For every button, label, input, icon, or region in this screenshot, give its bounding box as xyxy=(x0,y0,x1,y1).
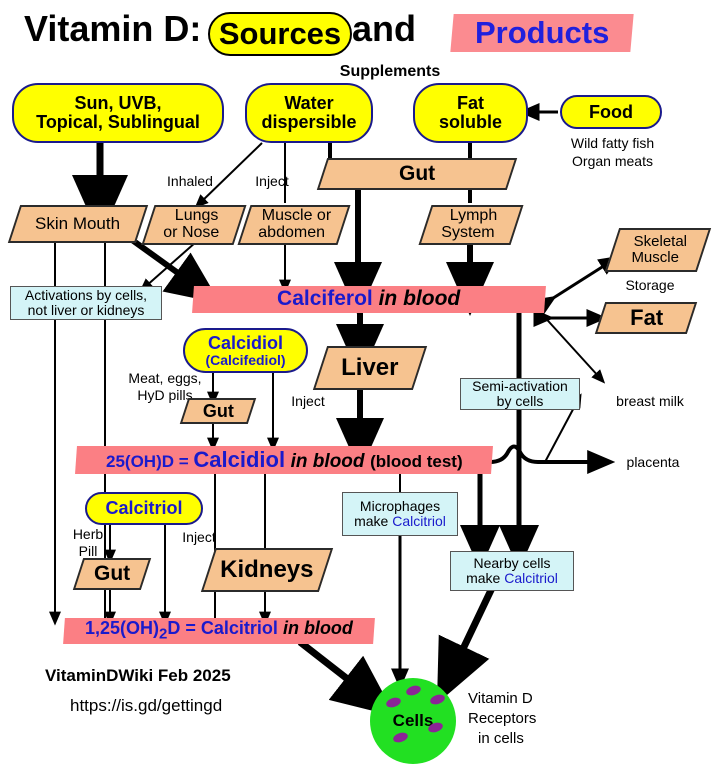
herb-text: Herb xyxy=(73,527,103,542)
footer-credit: VitaminDWiki Feb 2025 xyxy=(45,665,295,687)
semi-activation-line2: by cells xyxy=(497,394,544,409)
label-breast-milk: breast milk xyxy=(600,392,700,410)
label-inject-calcitriol: Inject xyxy=(170,528,228,546)
organ-kidneys[interactable]: Kidneys xyxy=(201,548,333,592)
note-nearby-cells: Nearby cells make Calcitriol xyxy=(450,551,574,591)
title-lead: Vitamin D: xyxy=(24,8,201,49)
label-inject-top: Inject xyxy=(242,172,302,190)
source-water-dispersible[interactable]: Water dispersible xyxy=(245,83,373,143)
skin-mouth-label: Skin Mouth xyxy=(35,215,120,233)
source-food-label: Food xyxy=(589,103,633,122)
nearby-cells-make: make xyxy=(466,570,504,586)
organ-muscle-abdomen[interactable]: Muscle or abdomen xyxy=(238,205,351,245)
meat-eggs-text: Meat, eggs, xyxy=(128,371,201,386)
supplements-label: Supplements xyxy=(305,62,475,82)
inject-calcitriol-text: Inject xyxy=(182,530,215,545)
label-vitamin-d-receptors-line2: Receptors xyxy=(468,710,578,728)
microphages-make: make xyxy=(354,513,392,529)
footer-url-text: https://is.gd/gettingd xyxy=(70,697,222,715)
breast-milk-text: breast milk xyxy=(616,394,684,409)
vitamin-d-text: Vitamin D xyxy=(468,691,533,707)
calcitriol-band-text: 1,25(OH)2D = Calcitriol in blood xyxy=(85,619,353,642)
microphages-line1: Microphages xyxy=(360,499,440,514)
hyd-pills-text: HyD pills xyxy=(137,388,192,403)
label-meat-eggs: Meat, eggs, xyxy=(110,370,220,386)
source-sun-uvb[interactable]: Sun, UVB, Topical, Sublingual xyxy=(12,83,224,143)
note-microphages: Microphages make Calcitriol xyxy=(342,492,458,536)
source-fat-line1: Fat xyxy=(457,94,484,113)
gut-mid-label: Gut xyxy=(203,402,234,421)
calciferol-text: Calciferol in blood xyxy=(277,288,460,310)
title-sources: Sources xyxy=(219,16,341,52)
label-inject-calcidiol: Inject xyxy=(278,392,338,410)
page-title: Vitamin D: xyxy=(24,8,201,50)
inhaled-text: Inhaled xyxy=(167,174,213,189)
calcidiol-line1: Calcidiol xyxy=(208,334,283,353)
source-fat-line2: soluble xyxy=(439,113,502,132)
lungs-line2: or Nose xyxy=(163,225,219,242)
fat-storage-label: Fat xyxy=(630,306,663,329)
label-herb: Herb xyxy=(64,526,112,542)
lungs-line1: Lungs xyxy=(175,208,219,225)
skeletal-line2: Muscle xyxy=(632,250,680,266)
blood-band-calcitriol: 1,25(OH)2D = Calcitriol in blood xyxy=(63,618,375,644)
label-vitamin-d-receptors-line1: Vitamin D xyxy=(468,690,578,708)
inject-calcidiol-text: Inject xyxy=(291,394,324,409)
calcidiol-band-text: 25(OH)D = Calcidiol in blood (blood test… xyxy=(106,448,463,472)
organ-gut-top[interactable]: Gut xyxy=(317,158,517,190)
inject-top-text: Inject xyxy=(255,174,288,189)
kidneys-label: Kidneys xyxy=(220,557,313,582)
calcidiol-line2: (Calcifediol) xyxy=(205,353,285,368)
organ-gut-mid[interactable]: Gut xyxy=(180,398,256,424)
semi-activation-line1: Semi-activation xyxy=(472,379,568,394)
source-water-line2: dispersible xyxy=(261,113,356,132)
diagram-canvas: Vitamin D: Sources and Products Suppleme… xyxy=(0,0,713,763)
pill-calcidiol[interactable]: Calcidiol (Calcifediol) xyxy=(183,328,308,373)
receptors-text: Receptors xyxy=(468,711,536,727)
source-water-line1: Water xyxy=(284,94,333,113)
microphages-line2: make Calcitriol xyxy=(354,514,446,529)
in-cells-text: in cells xyxy=(478,731,524,747)
muscle-line1: Muscle or xyxy=(262,208,331,225)
label-inhaled: Inhaled xyxy=(155,172,225,190)
title-sources-pill: Sources xyxy=(208,12,352,56)
note-activations-by-cells: Activations by cells, not liver or kidne… xyxy=(10,286,162,320)
organ-skin-mouth[interactable]: Skin Mouth xyxy=(8,205,148,243)
organ-lungs-nose[interactable]: Lungs or Nose xyxy=(142,205,247,245)
pill-text: Pill xyxy=(79,544,98,559)
label-storage: Storage xyxy=(600,276,700,294)
source-food[interactable]: Food xyxy=(560,95,662,129)
title-and: and xyxy=(352,8,416,50)
source-sun-line2: Topical, Sublingual xyxy=(36,113,200,132)
title-and-text: and xyxy=(352,8,416,49)
nearby-cells-line1: Nearby cells xyxy=(473,556,550,571)
liver-label: Liver xyxy=(341,355,398,380)
gut-top-label: Gut xyxy=(399,163,435,185)
label-pill: Pill xyxy=(64,543,112,559)
organ-skeletal-muscle[interactable]: Skeletal Muscle xyxy=(605,228,711,272)
lymph-line2: System xyxy=(442,225,495,242)
blood-band-calcidiol: 25(OH)D = Calcidiol in blood (blood test… xyxy=(75,446,493,474)
organ-lymph-system[interactable]: Lymph System xyxy=(419,205,524,245)
pill-calcitriol[interactable]: Calcitriol xyxy=(85,492,203,525)
organ-gut-low[interactable]: Gut xyxy=(73,558,151,590)
microphages-calcitriol: Calcitriol xyxy=(392,513,446,529)
source-fat-soluble[interactable]: Fat soluble xyxy=(413,83,528,143)
blood-band-calciferol: Calciferol in blood xyxy=(192,286,546,313)
nearby-cells-line2: make Calcitriol xyxy=(466,571,558,586)
organ-meats-text: Organ meats xyxy=(572,154,653,169)
muscle-line2: abdomen xyxy=(258,225,325,242)
placenta-text: placenta xyxy=(627,455,680,470)
label-vitamin-d-receptors-line3: in cells xyxy=(478,730,588,748)
lymph-line1: Lymph xyxy=(450,208,497,225)
skeletal-line1: Skeletal xyxy=(634,234,687,250)
footer-credit-text: VitaminDWiki Feb 2025 xyxy=(45,667,231,685)
activations-line2: not liver or kidneys xyxy=(28,303,145,318)
organ-fat-storage[interactable]: Fat xyxy=(595,302,697,334)
food-detail-organ-meats: Organ meats xyxy=(545,152,680,170)
note-semi-activation: Semi-activation by cells xyxy=(460,378,580,410)
footer-url[interactable]: https://is.gd/gettingd xyxy=(70,695,320,717)
wild-fish-text: Wild fatty fish xyxy=(571,136,654,151)
title-products-pill: Products xyxy=(450,14,633,52)
activations-line1: Activations by cells, xyxy=(25,288,147,303)
nearby-cells-calcitriol: Calcitriol xyxy=(504,570,558,586)
storage-text: Storage xyxy=(625,278,674,293)
source-sun-line1: Sun, UVB, xyxy=(74,94,161,113)
label-placenta: placenta xyxy=(608,453,698,471)
title-products: Products xyxy=(475,15,609,51)
organ-liver[interactable]: Liver xyxy=(313,346,427,390)
food-detail-wild-fish: Wild fatty fish xyxy=(545,134,680,152)
gut-low-label: Gut xyxy=(94,563,130,585)
calcitriol-pill-label: Calcitriol xyxy=(105,499,182,518)
supplements-text: Supplements xyxy=(340,64,440,81)
